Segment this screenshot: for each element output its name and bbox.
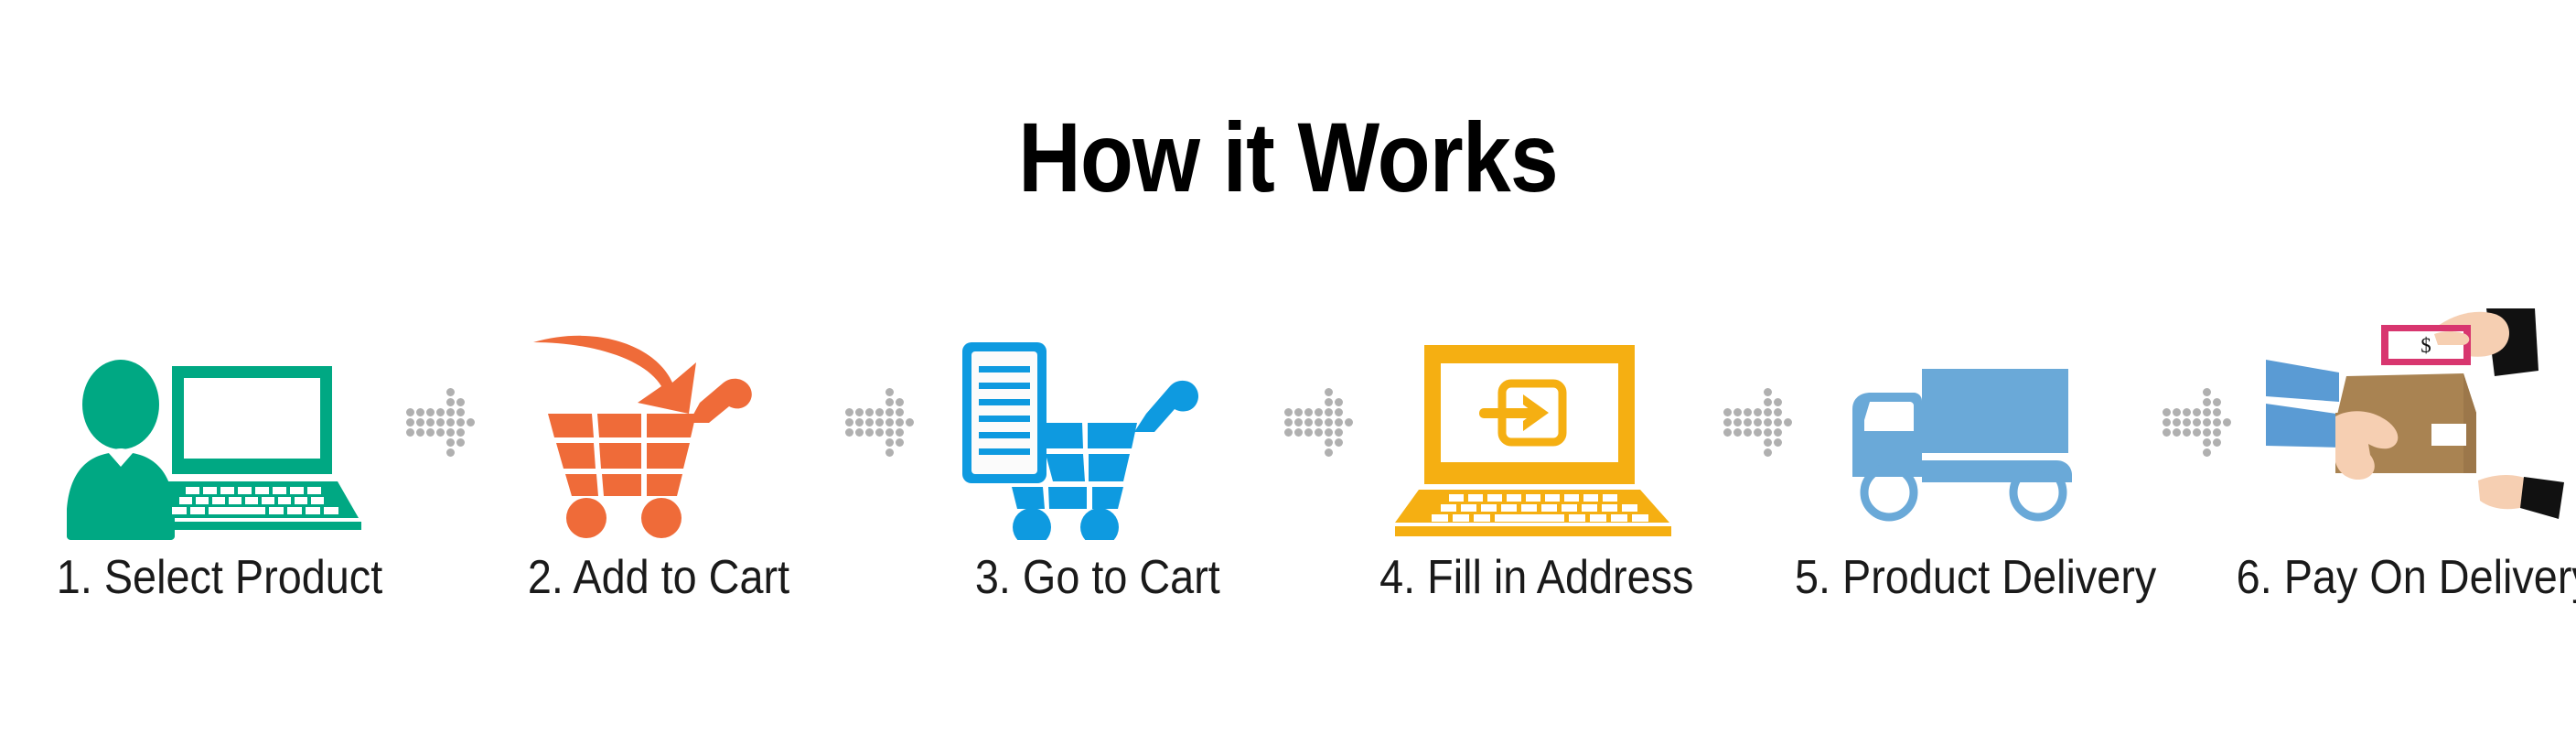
step-4-fill-in-address[interactable]: 4. Fill in Address (1354, 302, 1720, 650)
step-6-pay-on-delivery[interactable]: $ (2232, 302, 2576, 650)
dotted-right-arrow-icon (845, 388, 911, 454)
dotted-right-arrow-icon (2163, 388, 2228, 454)
step-5-icon-area (1793, 302, 2159, 540)
dotted-right-arrow-icon (1284, 388, 1350, 454)
dotted-right-arrow-icon (406, 388, 472, 454)
separator-4 (1720, 302, 1793, 540)
step-6-label: 6. Pay On Delivery (2237, 553, 2576, 603)
step-3-label: 3. Go to Cart (975, 553, 1220, 603)
hands-exchanging-box-and-money-icon: $ (2264, 307, 2566, 540)
step-2-icon-area (476, 302, 842, 540)
money-symbol: $ (2420, 334, 2431, 357)
step-6-icon-area: $ (2232, 302, 2576, 540)
step-3-go-to-cart[interactable]: 3. Go to Cart (915, 302, 1281, 650)
box-label (2431, 424, 2466, 446)
step-3-icon-area (915, 302, 1281, 540)
step-4-label: 4. Fill in Address (1379, 553, 1693, 603)
step-5-product-delivery[interactable]: 5. Product Delivery (1793, 302, 2159, 650)
step-5-label: 5. Product Delivery (1795, 553, 2156, 603)
dotted-right-arrow-icon (1723, 388, 1789, 454)
step-2-label: 2. Add to Cart (528, 553, 789, 603)
separator-3 (1281, 302, 1354, 540)
separator-5 (2159, 302, 2232, 540)
separator-2 (842, 302, 915, 540)
step-1-icon-area (37, 302, 402, 540)
separator-1 (402, 302, 476, 540)
sleeve-left-upper (2266, 360, 2339, 402)
shopping-cart-with-arrow-icon (526, 329, 791, 540)
document-with-cart-icon (961, 329, 1235, 540)
step-1-select-product[interactable]: 1. Select Product (37, 302, 402, 650)
step-4-icon-area (1354, 302, 1720, 540)
person-with-laptop-icon (64, 357, 375, 540)
steps-row: 1. Select Product (37, 302, 2539, 650)
step-2-add-to-cart[interactable]: 2. Add to Cart (476, 302, 842, 650)
sleeve-bottom (2520, 477, 2564, 519)
laptop-with-login-arrow-icon (1395, 343, 1679, 540)
page-title: How it Works (155, 108, 2421, 207)
step-1-label: 1. Select Product (57, 553, 382, 603)
delivery-truck-icon (1830, 362, 2122, 540)
sleeve-left-lower (2266, 404, 2343, 448)
